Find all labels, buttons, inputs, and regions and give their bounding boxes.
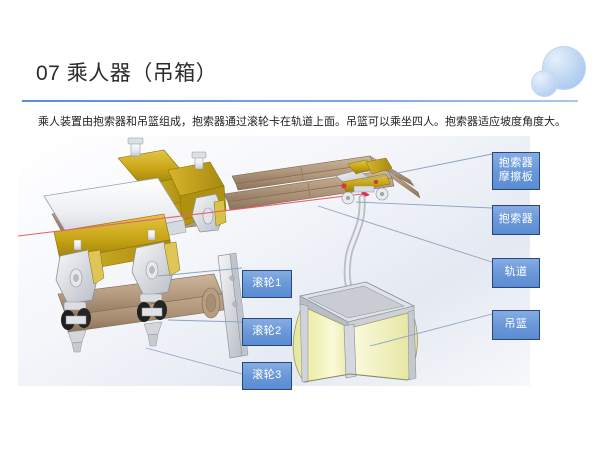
- callout-line-1: 滚轮3: [252, 369, 282, 383]
- callout-line-1: 滚轮1: [252, 277, 282, 291]
- callout-line-1: 滚轮2: [252, 325, 282, 339]
- callout-line-2: 摩擦板: [499, 171, 534, 185]
- title-divider: [22, 100, 578, 102]
- hanger-arm: [342, 198, 362, 297]
- callout-grip-friction-plate[interactable]: 抱索器 摩擦板: [492, 152, 540, 190]
- callout-roller-2[interactable]: 滚轮2: [242, 318, 292, 346]
- callout-line-1: 抱索器: [499, 157, 534, 171]
- callout-roller-3[interactable]: 滚轮3: [242, 362, 292, 390]
- slide-root: 07 乘人器（吊箱） 乘人装置由抱索器和吊篮组成，抱索器通过滚轮卡在轨道上面。吊…: [0, 0, 600, 450]
- callout-line-1: 抱索器: [499, 213, 534, 227]
- callout-grip[interactable]: 抱索器: [492, 205, 540, 235]
- callout-roller-1[interactable]: 滚轮1: [242, 270, 292, 298]
- header-decoration: [524, 42, 594, 104]
- gondola-cabin: [293, 282, 417, 382]
- callout-line-1: 轨道: [505, 266, 528, 280]
- page-title: 07 乘人器（吊箱）: [36, 57, 217, 87]
- small-circle-icon: [531, 70, 558, 97]
- cad-illustration: [18, 136, 530, 386]
- callout-line-1: 吊篮: [505, 318, 528, 332]
- callout-cabin[interactable]: 吊篮: [492, 310, 540, 340]
- callout-track[interactable]: 轨道: [492, 258, 540, 288]
- body-paragraph: 乘人装置由抱索器和吊篮组成，抱索器通过滚轮卡在轨道上面。吊篮可以乘坐四人。抱索器…: [38, 114, 568, 131]
- illustration-figure: [18, 136, 530, 386]
